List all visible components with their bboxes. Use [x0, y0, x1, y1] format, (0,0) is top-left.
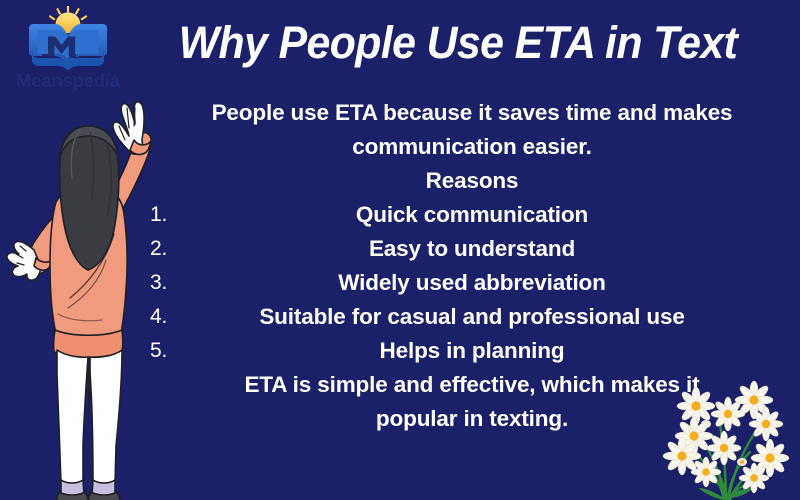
- list-item: 5. Helps in planning: [168, 334, 776, 368]
- intro-paragraph: People use ETA because it saves time and…: [168, 96, 776, 164]
- section-heading-reasons: Reasons: [168, 164, 776, 198]
- intro-line-1: People use ETA because it saves time and…: [168, 96, 776, 130]
- list-item: 3. Widely used abbreviation: [168, 266, 776, 300]
- list-item-number: 4.: [150, 300, 176, 334]
- list-item: 2. Easy to understand: [168, 232, 776, 266]
- intro-line-2: communication easier.: [168, 130, 776, 164]
- list-item-label: Easy to understand: [369, 236, 575, 261]
- reasons-list: 1. Quick communication 2. Easy to unders…: [168, 198, 776, 368]
- open-book-lightbulb-icon: [26, 6, 110, 72]
- page-title: Why People Use ETA in Text: [145, 16, 772, 70]
- list-item: 1. Quick communication: [168, 198, 776, 232]
- list-item: 4. Suitable for casual and professional …: [168, 300, 776, 334]
- brand-logo[interactable]: Meanspedia: [8, 4, 128, 96]
- list-item-number: 2.: [150, 232, 176, 266]
- infographic-canvas: Meanspedia Why People Use ETA in Text: [0, 0, 800, 500]
- list-item-label: Suitable for casual and professional use: [259, 304, 684, 329]
- list-item-number: 1.: [150, 198, 176, 232]
- list-item-label: Widely used abbreviation: [338, 270, 606, 295]
- list-item-number: 5.: [150, 334, 176, 368]
- list-item-label: Helps in planning: [380, 338, 565, 363]
- daisy-bouquet-illustration: [650, 380, 800, 500]
- list-item-label: Quick communication: [356, 202, 588, 227]
- list-item-number: 3.: [150, 266, 176, 300]
